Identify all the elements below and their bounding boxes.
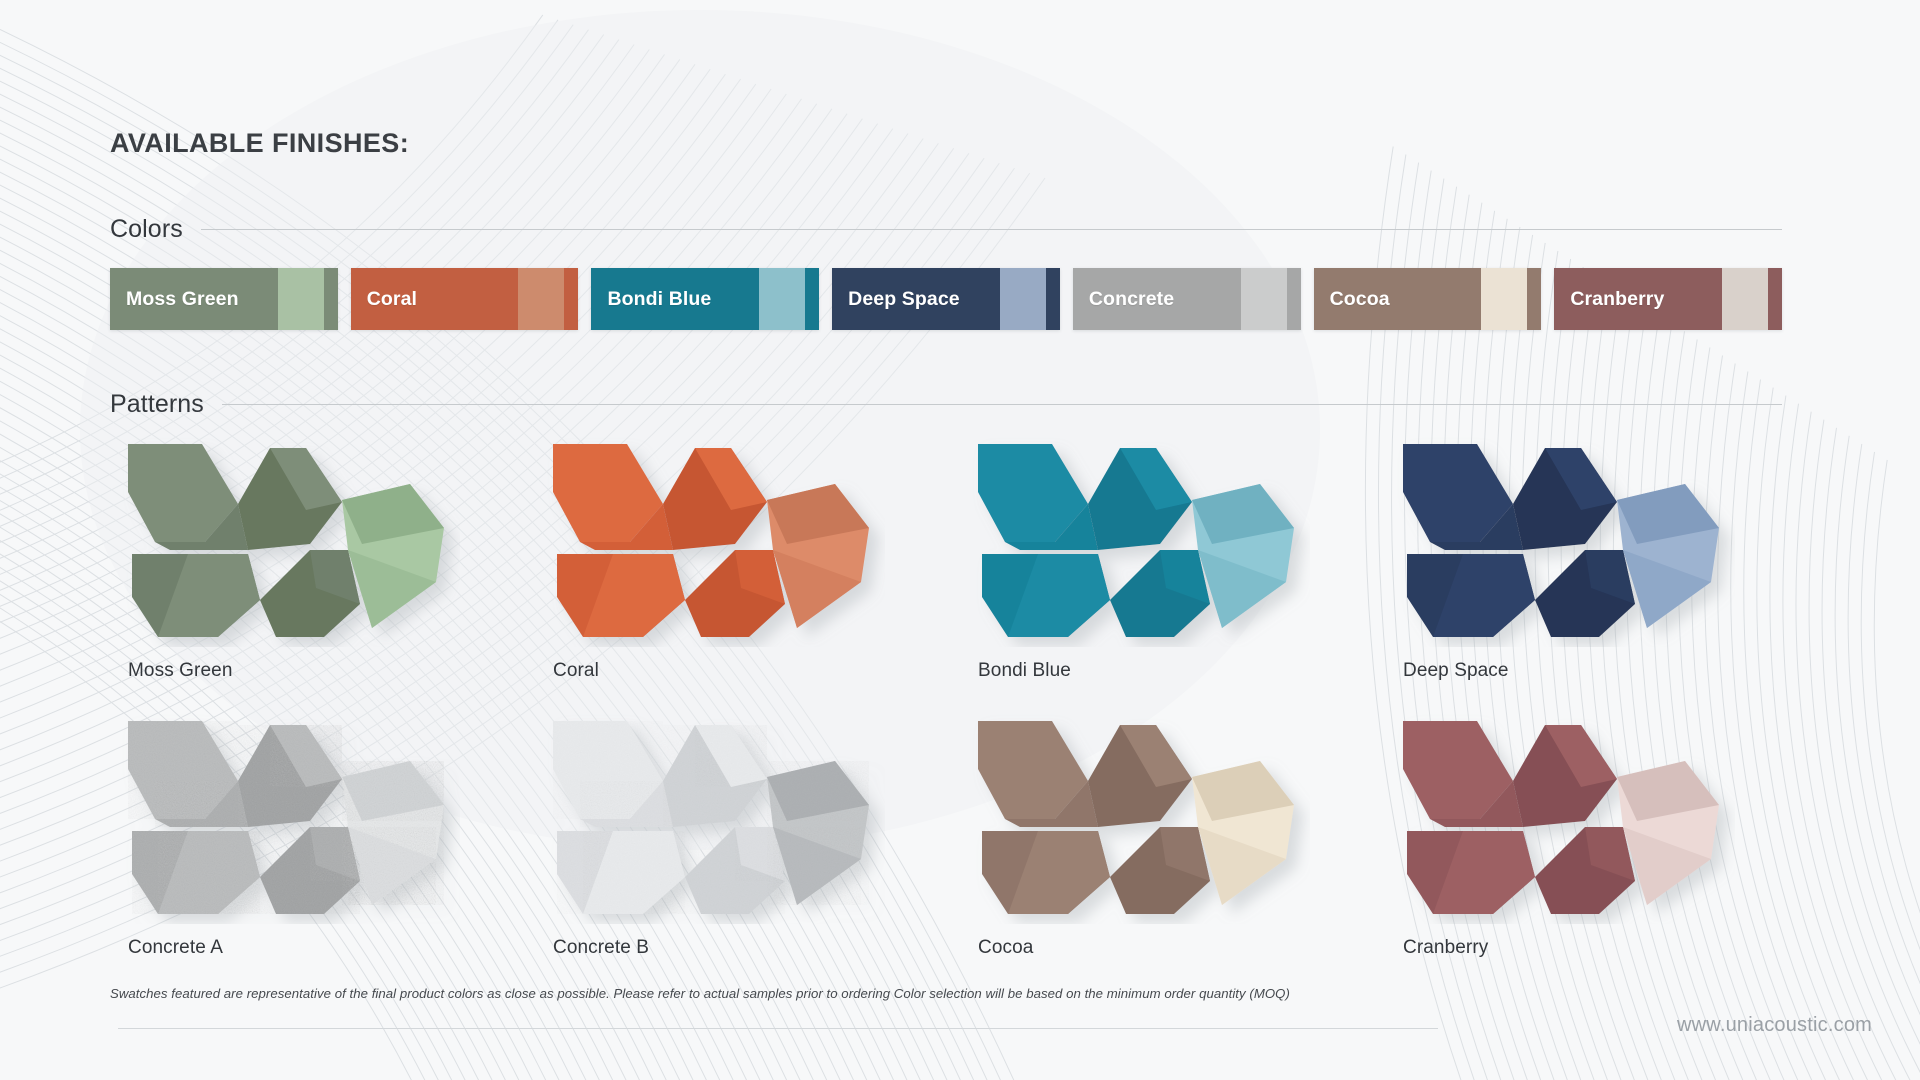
pattern-tile-art — [110, 709, 460, 924]
page-title: AVAILABLE FINISHES: — [110, 128, 409, 159]
color-swatch-bondi-blue[interactable]: Bondi Blue — [591, 268, 819, 330]
pattern-label: Concrete B — [553, 937, 649, 959]
pattern-label: Coral — [553, 660, 599, 682]
pattern-tile-art — [535, 709, 885, 924]
pattern-card-cranberry[interactable]: Cranberry — [1385, 709, 1810, 986]
section-header-patterns: Patterns — [110, 390, 1782, 419]
color-swatch-cranberry[interactable]: Cranberry — [1554, 268, 1782, 330]
pattern-label: Bondi Blue — [978, 660, 1071, 682]
pattern-tile-art — [110, 432, 460, 647]
color-swatch-accent-stripe — [1000, 268, 1046, 330]
color-swatch-label: Concrete — [1073, 288, 1174, 311]
color-swatch-moss-green[interactable]: Moss Green — [110, 268, 338, 330]
section-divider-patterns — [222, 404, 1782, 405]
pattern-tile-art — [1385, 432, 1735, 647]
pattern-label: Cocoa — [978, 937, 1033, 959]
color-swatch-row: Moss GreenCoralBondi BlueDeep SpaceConcr… — [110, 268, 1782, 330]
pattern-label: Moss Green — [128, 660, 232, 682]
disclaimer-text: Swatches featured are representative of … — [110, 986, 1290, 1001]
color-swatch-label: Moss Green — [110, 288, 239, 311]
color-swatch-accent-stripe — [1481, 268, 1527, 330]
pattern-label: Deep Space — [1403, 660, 1509, 682]
color-swatch-label: Cocoa — [1314, 288, 1390, 311]
color-swatch-concrete[interactable]: Concrete — [1073, 268, 1301, 330]
color-swatch-accent-stripe — [518, 268, 564, 330]
color-swatch-coral[interactable]: Coral — [351, 268, 579, 330]
pattern-label: Concrete A — [128, 937, 223, 959]
color-swatch-label: Bondi Blue — [591, 288, 711, 311]
section-label-patterns: Patterns — [110, 390, 204, 419]
color-swatch-accent-stripe — [1722, 268, 1768, 330]
color-swatch-accent-stripe — [278, 268, 324, 330]
pattern-card-moss-green[interactable]: Moss Green — [110, 432, 535, 709]
pattern-tile-art — [1385, 709, 1735, 924]
pattern-tile-art — [960, 432, 1310, 647]
section-header-colors: Colors — [110, 215, 1782, 244]
pattern-card-concrete-a[interactable]: Concrete A — [110, 709, 535, 986]
pattern-label: Cranberry — [1403, 937, 1488, 959]
pattern-grid: Moss Green Coral Bondi Blue Deep Space — [110, 432, 1810, 986]
color-swatch-label: Coral — [351, 288, 417, 311]
section-label-colors: Colors — [110, 215, 183, 244]
pattern-tile-art — [960, 709, 1310, 924]
pattern-card-deep-space[interactable]: Deep Space — [1385, 432, 1810, 709]
footer-divider — [118, 1028, 1438, 1029]
color-swatch-label: Deep Space — [832, 288, 960, 311]
color-swatch-deep-space[interactable]: Deep Space — [832, 268, 1060, 330]
section-divider-colors — [201, 229, 1782, 230]
color-swatch-accent-stripe — [759, 268, 805, 330]
color-swatch-cocoa[interactable]: Cocoa — [1314, 268, 1542, 330]
pattern-card-coral[interactable]: Coral — [535, 432, 960, 709]
color-swatch-label: Cranberry — [1554, 288, 1664, 311]
pattern-card-concrete-b[interactable]: Concrete B — [535, 709, 960, 986]
pattern-card-cocoa[interactable]: Cocoa — [960, 709, 1385, 986]
color-swatch-accent-stripe — [1241, 268, 1287, 330]
site-url: www.uniacoustic.com — [1677, 1014, 1872, 1037]
pattern-tile-art — [535, 432, 885, 647]
pattern-card-bondi-blue[interactable]: Bondi Blue — [960, 432, 1385, 709]
